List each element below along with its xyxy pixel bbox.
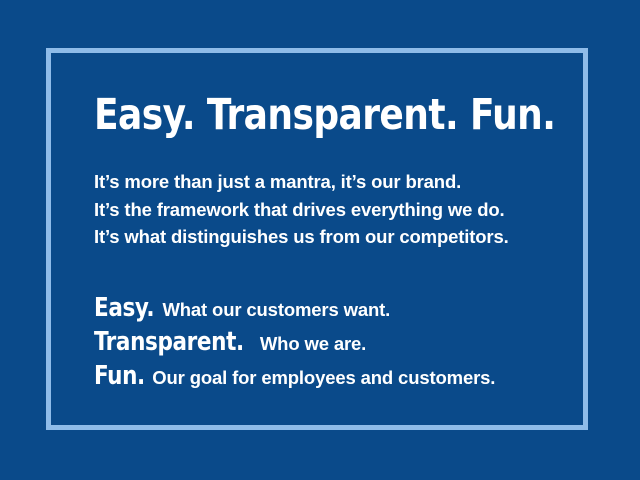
intro-line: It’s what distinguishes us from our comp… <box>94 223 594 251</box>
keyword-term: Easy. <box>94 293 154 324</box>
keyword-description: What our customers want. <box>159 299 390 320</box>
keyword-list: Easy.What our customers want. Transparen… <box>94 251 594 395</box>
page-title: Easy. Transparent. Fun. <box>94 92 559 138</box>
keyword-description: Who we are. <box>257 333 366 354</box>
list-item: Fun.Our goal for employees and customers… <box>94 361 594 395</box>
intro-paragraph: It’s more than just a mantra, it’s our b… <box>94 138 594 251</box>
intro-line: It’s the framework that drives everythin… <box>94 196 594 224</box>
keyword-description: Our goal for employees and customers. <box>149 367 495 388</box>
slide-content: Easy. Transparent. Fun. It’s more than j… <box>94 92 594 395</box>
list-item: Transparent.Who we are. <box>94 327 594 361</box>
keyword-term: Transparent. <box>94 327 244 358</box>
keyword-term: Fun. <box>94 361 145 392</box>
list-item: Easy.What our customers want. <box>94 293 594 327</box>
intro-line: It’s more than just a mantra, it’s our b… <box>94 168 594 196</box>
slide-canvas: Easy. Transparent. Fun. It’s more than j… <box>0 0 640 480</box>
